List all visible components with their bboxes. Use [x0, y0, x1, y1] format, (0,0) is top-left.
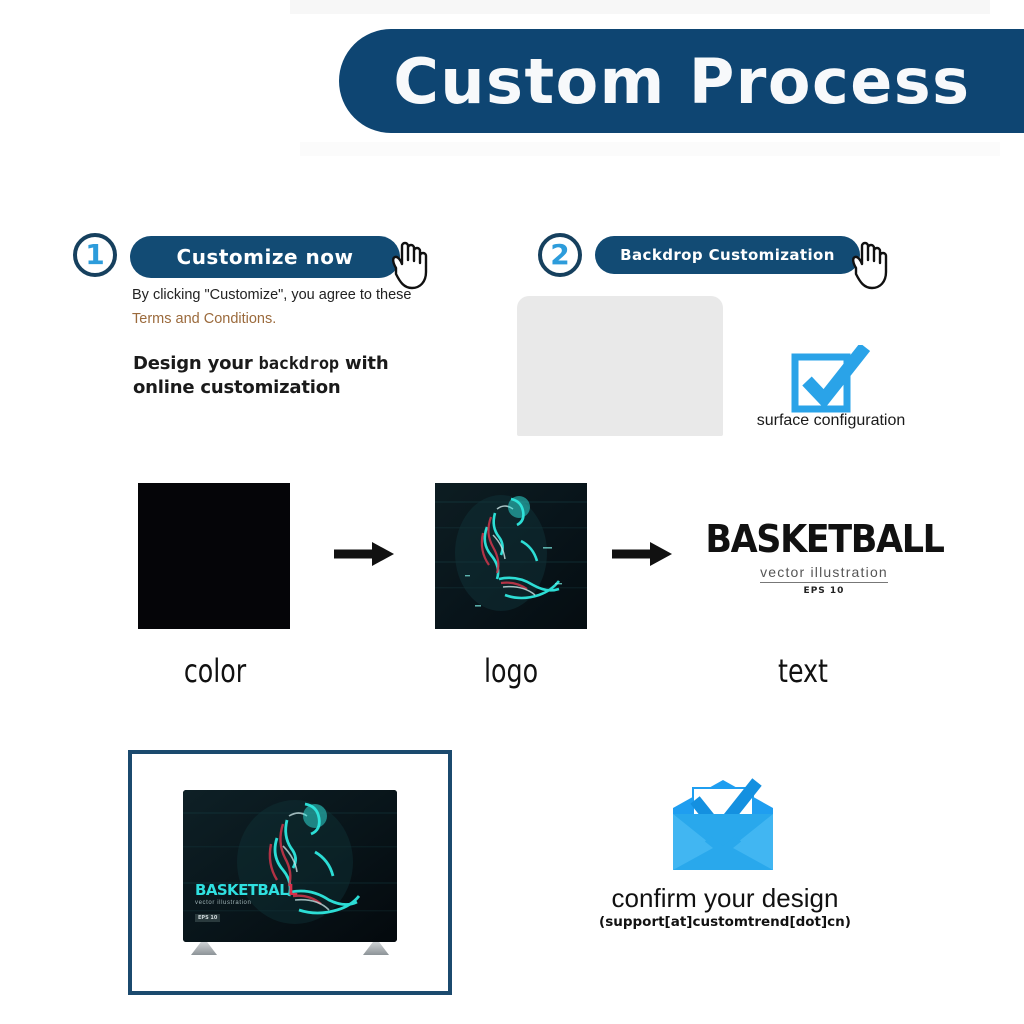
terms-and-conditions-link[interactable]: Terms and Conditions. — [132, 311, 276, 327]
customize-now-button-label: Customize now — [177, 245, 354, 269]
text-art-thumbnail[interactable]: BASKETBALL vector illustration EPS 10 — [705, 515, 943, 600]
mockup-graphic-panel: BASKETBALL vector illustration EPS 10 — [183, 790, 397, 942]
step-number-label-2: 2 — [550, 241, 569, 269]
logo-thumbnail[interactable] — [435, 483, 587, 629]
color-swatch-thumbnail[interactable] — [138, 483, 290, 629]
arrow-right-icon — [330, 533, 398, 575]
design-headline: Design your backdrop with online customi… — [133, 352, 433, 400]
backdrop-customization-button[interactable]: Backdrop Customization — [595, 236, 860, 274]
header-banner: Custom Process — [339, 29, 1024, 133]
hand-pointer-icon — [389, 238, 435, 290]
design-headline-emphasis: backdrop — [259, 354, 339, 374]
step-number-label-1: 1 — [85, 241, 104, 269]
page-title: Custom Process — [393, 45, 970, 118]
customize-now-button[interactable]: Customize now — [130, 236, 400, 278]
surface-configuration-label: surface configuration — [745, 412, 917, 430]
basketball-glitch-artwork — [435, 483, 587, 629]
top-decorative-band — [290, 0, 990, 14]
confirm-design-label: confirm your design — [570, 883, 880, 914]
text-art-title: BASKETBALL — [705, 520, 943, 558]
mockup-badge: EPS 10 — [195, 914, 220, 922]
design-headline-part1: Design your — [133, 353, 259, 374]
text-art-subtitle: vector illustration — [760, 564, 888, 583]
mockup-caption-block: BASKETBALL vector illustration EPS 10 — [195, 883, 297, 924]
backdrop-customization-button-label: Backdrop Customization — [620, 246, 835, 264]
mockup-subtitle: vector illustration — [195, 900, 297, 906]
confirm-design-email: (support[at]customtrend[dot]cn) — [570, 914, 880, 930]
mockup-title: BASKETBALL — [195, 883, 297, 898]
envelope-check-icon — [669, 778, 777, 874]
checkbox-checked-icon — [791, 345, 871, 413]
sub-decorative-band — [300, 142, 1000, 156]
row-label-logo: logo — [445, 652, 577, 690]
text-art-badge: EPS 10 — [804, 586, 845, 596]
final-product-frame[interactable]: BASKETBALL vector illustration EPS 10 — [128, 750, 452, 995]
arrow-right-icon — [608, 533, 676, 575]
row-label-text: text — [737, 652, 869, 690]
terms-disclaimer: By clicking "Customize", you agree to th… — [132, 284, 422, 332]
hand-pointer-icon — [849, 238, 895, 290]
custom-process-infographic: Custom Process 1 Customize now By clicki… — [0, 0, 1024, 1024]
step-number-badge-2: 2 — [538, 233, 582, 277]
mockup-stand-left — [191, 942, 217, 955]
mockup-title-accent: L — [288, 881, 297, 899]
surface-preview-placeholder[interactable] — [517, 296, 723, 436]
mockup-stand-right — [363, 942, 389, 955]
terms-prefix-text: By clicking "Customize", you agree to th… — [132, 287, 411, 303]
step-number-badge-1: 1 — [73, 233, 117, 277]
backdrop-display-mockup: BASKETBALL vector illustration EPS 10 — [183, 790, 397, 955]
row-label-color: color — [149, 652, 281, 690]
